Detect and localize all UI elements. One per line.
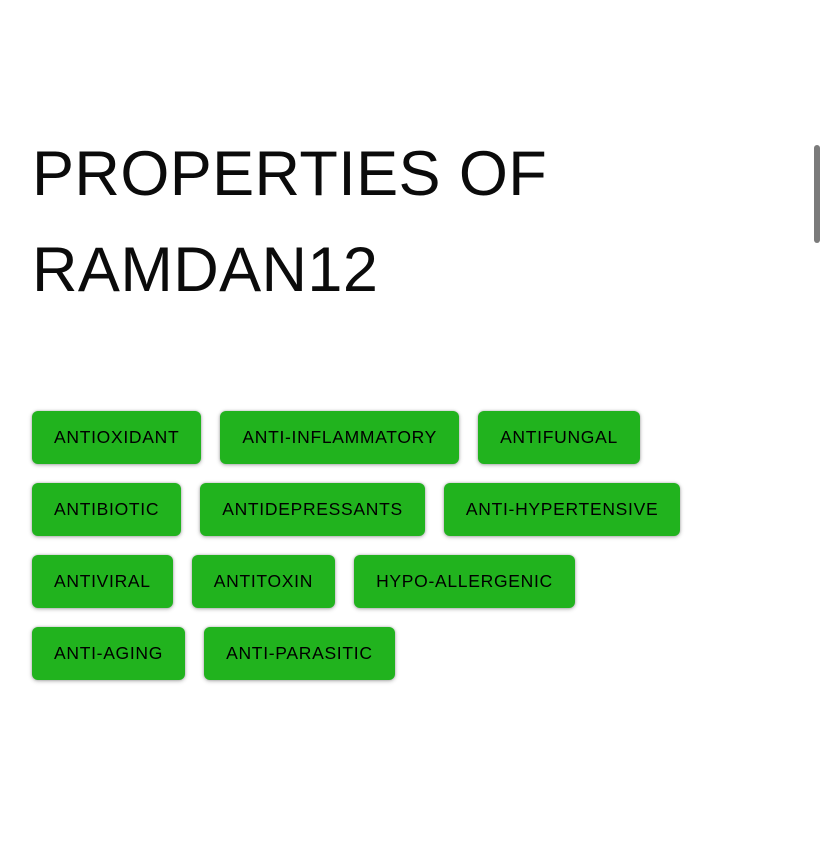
content-area: PROPERTIES OF RAMDAN12 ANTIOXIDANTANTI-I… — [32, 0, 788, 863]
tag-pill[interactable]: ANTI-HYPERTENSIVE — [444, 483, 680, 536]
tag-pill[interactable]: ANTI-AGING — [32, 627, 185, 680]
scrollbar-track[interactable] — [814, 0, 820, 863]
page-root: PROPERTIES OF RAMDAN12 ANTIOXIDANTANTI-I… — [0, 0, 828, 863]
tag-pill[interactable]: ANTI-PARASITIC — [204, 627, 395, 680]
tag-pill[interactable]: ANTIOXIDANT — [32, 411, 201, 464]
tag-pill[interactable]: HYPO-ALLERGENIC — [354, 555, 575, 608]
page-title: PROPERTIES OF RAMDAN12 — [32, 126, 652, 318]
tag-pill[interactable]: ANTIFUNGAL — [478, 411, 640, 464]
scrollbar-thumb[interactable] — [814, 145, 820, 243]
tag-pill[interactable]: ANTITOXIN — [192, 555, 335, 608]
tag-pill[interactable]: ANTIDEPRESSANTS — [200, 483, 425, 536]
tag-cloud: ANTIOXIDANTANTI-INFLAMMATORYANTIFUNGALAN… — [32, 411, 732, 680]
tag-pill[interactable]: ANTI-INFLAMMATORY — [220, 411, 459, 464]
tag-pill[interactable]: ANTIBIOTIC — [32, 483, 181, 536]
tag-pill[interactable]: ANTIVIRAL — [32, 555, 173, 608]
